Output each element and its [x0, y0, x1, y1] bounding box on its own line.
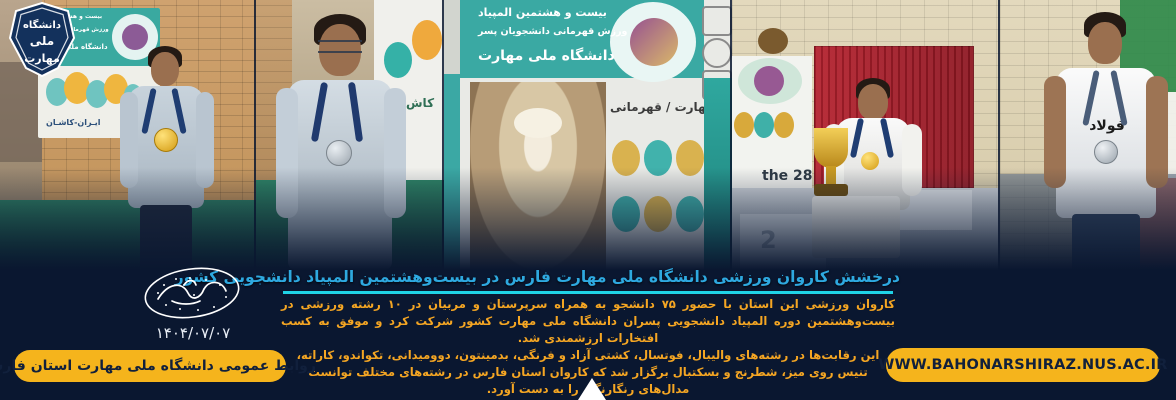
photo-3[interactable]: بیست و هشتمین المپیاد ورزش قهرمانی دانشج… [444, 0, 732, 270]
signature-seal-icon [134, 265, 250, 321]
photo2-banner-sub: کاش [406, 96, 434, 110]
photo3-poster-line2: ورزش قهرمانی دانشجویان پسر [478, 26, 627, 37]
trophy [814, 128, 848, 168]
photo-4[interactable]: the 28 2 [732, 0, 1000, 270]
photo3-poster-line3: دانشگاه ملی مهارت [478, 48, 615, 64]
body-paragraph-1: کاروان ورزشی این استان با حضور ۷۵ دانشجو… [281, 296, 895, 347]
public-relations-badge[interactable]: روابط عمومی دانشگاه ملی مهارت استان فارس [14, 350, 286, 382]
gold-medal [154, 128, 178, 152]
logo-line3: مهارت [24, 52, 60, 65]
website-url-button[interactable]: WWW.BAHONARSHIRAZ.NUS.AC.IR [886, 348, 1160, 382]
photo1-banner-sub: ایـران-کاشـان [46, 118, 100, 127]
logo-line2: ملی [30, 34, 54, 48]
website-url-label: WWW.BAHONARSHIRAZ.NUS.AC.IR [878, 357, 1167, 373]
silver-medal [1094, 140, 1118, 164]
publish-date: ۱۴۰۴/۰۷/۰۷ [108, 324, 278, 342]
photo4-podium-number: 2 [760, 226, 777, 254]
photo-5[interactable]: فولاد [1000, 0, 1176, 270]
silver-medal [326, 140, 352, 166]
eyeglasses [318, 40, 362, 53]
headline-divider [283, 291, 893, 294]
university-logo[interactable]: دانشگاه ملی مهارت [6, 2, 78, 78]
logo-line1: دانشگاه [23, 18, 61, 31]
photo4-banner-badge: the 28 [762, 168, 813, 184]
photo-strip: بیست و هشتمین الـ ورزش قهرمانی دانشجو دا… [0, 0, 1176, 270]
scroll-up-arrow-icon[interactable] [578, 378, 606, 400]
photo3-poster-line1: بیست و هشتمین المپیاد [478, 6, 607, 19]
photo-2[interactable]: کاش [256, 0, 444, 270]
news-banner-slide: بیست و هشتمین الـ ورزش قهرمانی دانشجو دا… [0, 0, 1176, 400]
headline: درخشش کاروان ورزشی دانشگاه ملی مهارت فار… [276, 268, 900, 286]
public-relations-label: روابط عمومی دانشگاه ملی مهارت استان فارس [0, 358, 316, 374]
